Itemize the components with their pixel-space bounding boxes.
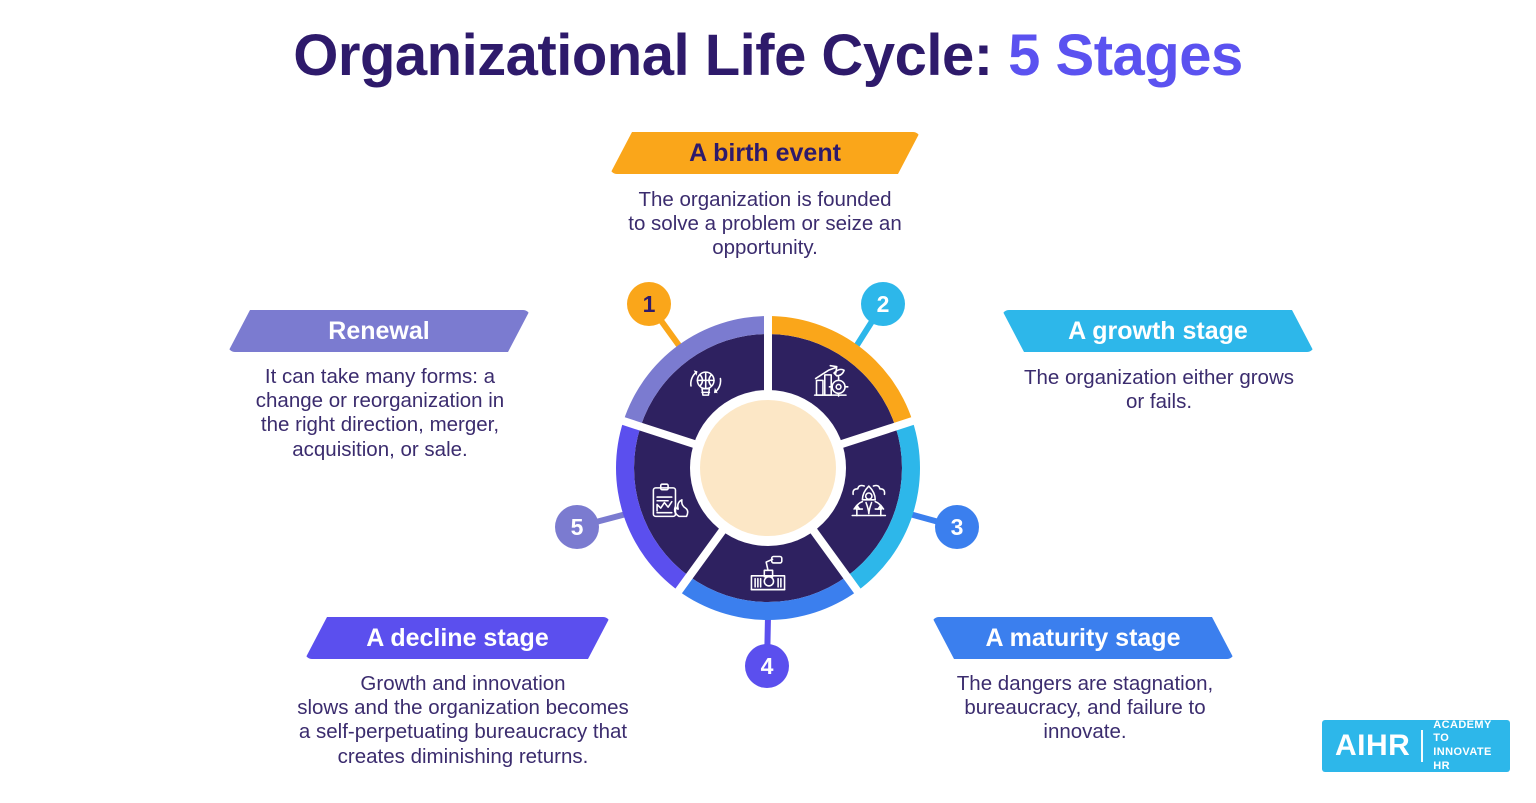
aihr-logo: AIHR ACADEMY TO INNOVATE HR xyxy=(1322,720,1510,772)
stage-badge-4[interactable]: 4 xyxy=(745,644,789,688)
page-title-main: Organizational Life Cycle: xyxy=(293,23,1008,88)
stage-label-4: A decline stage xyxy=(366,624,548,653)
logo-wordmark: AIHR xyxy=(1335,729,1410,763)
life-cycle-wheel xyxy=(523,250,1013,690)
stage-label-5: Renewal xyxy=(328,317,429,346)
stage-number-2: 2 xyxy=(877,291,890,318)
stage-number-1: 1 xyxy=(643,291,656,318)
logo-tagline: ACADEMY TO INNOVATE HR xyxy=(1433,719,1510,774)
stage-label-3: A maturity stage xyxy=(986,624,1181,653)
stage-number-5: 5 xyxy=(571,514,584,541)
stage-badge-5[interactable]: 5 xyxy=(555,505,599,549)
page-title: Organizational Life Cycle: 5 Stages xyxy=(0,22,1536,89)
stage-label-2: A growth stage xyxy=(1068,317,1248,346)
stage-banner-5[interactable]: Renewal xyxy=(228,310,530,352)
page-title-accent: 5 Stages xyxy=(1008,23,1243,88)
infographic-canvas: Organizational Life Cycle: 5 Stages A bi… xyxy=(0,0,1536,803)
stage-badge-2[interactable]: 2 xyxy=(861,282,905,326)
stage-number-4: 4 xyxy=(761,653,774,680)
stage-number-3: 3 xyxy=(951,514,964,541)
stage-description-5: It can take many forms: a change or reor… xyxy=(230,365,530,462)
stage-label-1: A birth event xyxy=(689,139,841,168)
stage-badge-1[interactable]: 1 xyxy=(627,282,671,326)
stage-banner-2[interactable]: A growth stage xyxy=(1002,310,1314,352)
stage-banner-1[interactable]: A birth event xyxy=(610,132,920,174)
stage-description-2: The organization either grows or fails. xyxy=(990,366,1328,414)
stage-badge-3[interactable]: 3 xyxy=(935,505,979,549)
wheel-hub xyxy=(700,400,836,536)
logo-divider xyxy=(1421,730,1423,762)
wheel-svg xyxy=(523,250,1013,690)
